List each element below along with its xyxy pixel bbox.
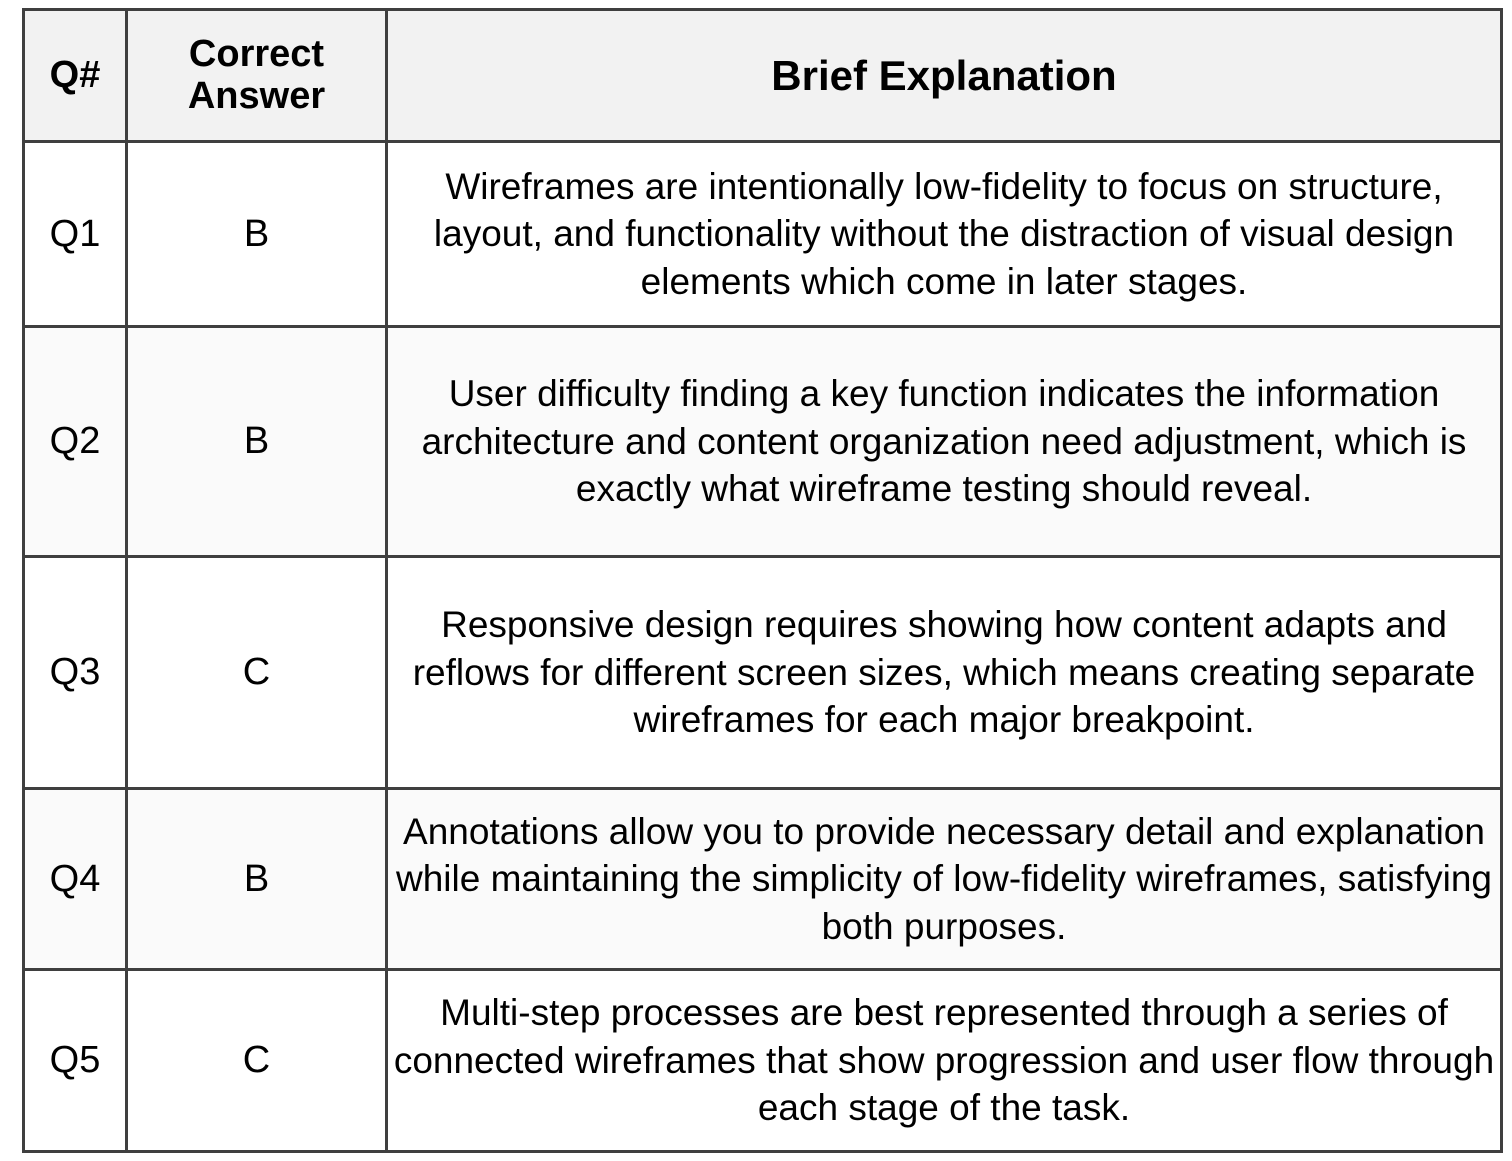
cell-brief-explanation: Wireframes are intentionally low-fidelit… [387,142,1502,327]
table-row: Q1 B Wireframes are intentionally low-fi… [24,142,1502,327]
cell-correct-answer: C [127,970,387,1152]
column-header-correct-answer: Correct Answer [127,10,387,142]
column-header-correct-answer-line2: Answer [128,76,385,117]
cell-brief-explanation: Annotations allow you to provide necessa… [387,789,1502,970]
column-header-correct-answer-line1: Correct [128,34,385,75]
table-body: Q1 B Wireframes are intentionally low-fi… [24,142,1502,1152]
page-root: Q# Correct Answer Brief Explanation Q1 B… [0,0,1512,1161]
column-header-brief-explanation: Brief Explanation [387,10,1502,142]
cell-correct-answer: B [127,789,387,970]
cell-question-number: Q2 [24,327,127,557]
table-row: Q3 C Responsive design requires showing … [24,557,1502,789]
cell-question-number: Q3 [24,557,127,789]
cell-question-number: Q5 [24,970,127,1152]
cell-correct-answer: B [127,142,387,327]
table-header-row: Q# Correct Answer Brief Explanation [24,10,1502,142]
column-header-question-number: Q# [24,10,127,142]
cell-correct-answer: B [127,327,387,557]
cell-correct-answer: C [127,557,387,789]
table-header: Q# Correct Answer Brief Explanation [24,10,1502,142]
table-row: Q2 B User difficulty finding a key funct… [24,327,1502,557]
cell-question-number: Q1 [24,142,127,327]
cell-brief-explanation: Responsive design requires showing how c… [387,557,1502,789]
cell-brief-explanation: User difficulty finding a key function i… [387,327,1502,557]
table-row: Q5 C Multi-step processes are best repre… [24,970,1502,1152]
cell-question-number: Q4 [24,789,127,970]
cell-brief-explanation: Multi-step processes are best represente… [387,970,1502,1152]
table-row: Q4 B Annotations allow you to provide ne… [24,789,1502,970]
answer-key-table: Q# Correct Answer Brief Explanation Q1 B… [22,8,1503,1153]
